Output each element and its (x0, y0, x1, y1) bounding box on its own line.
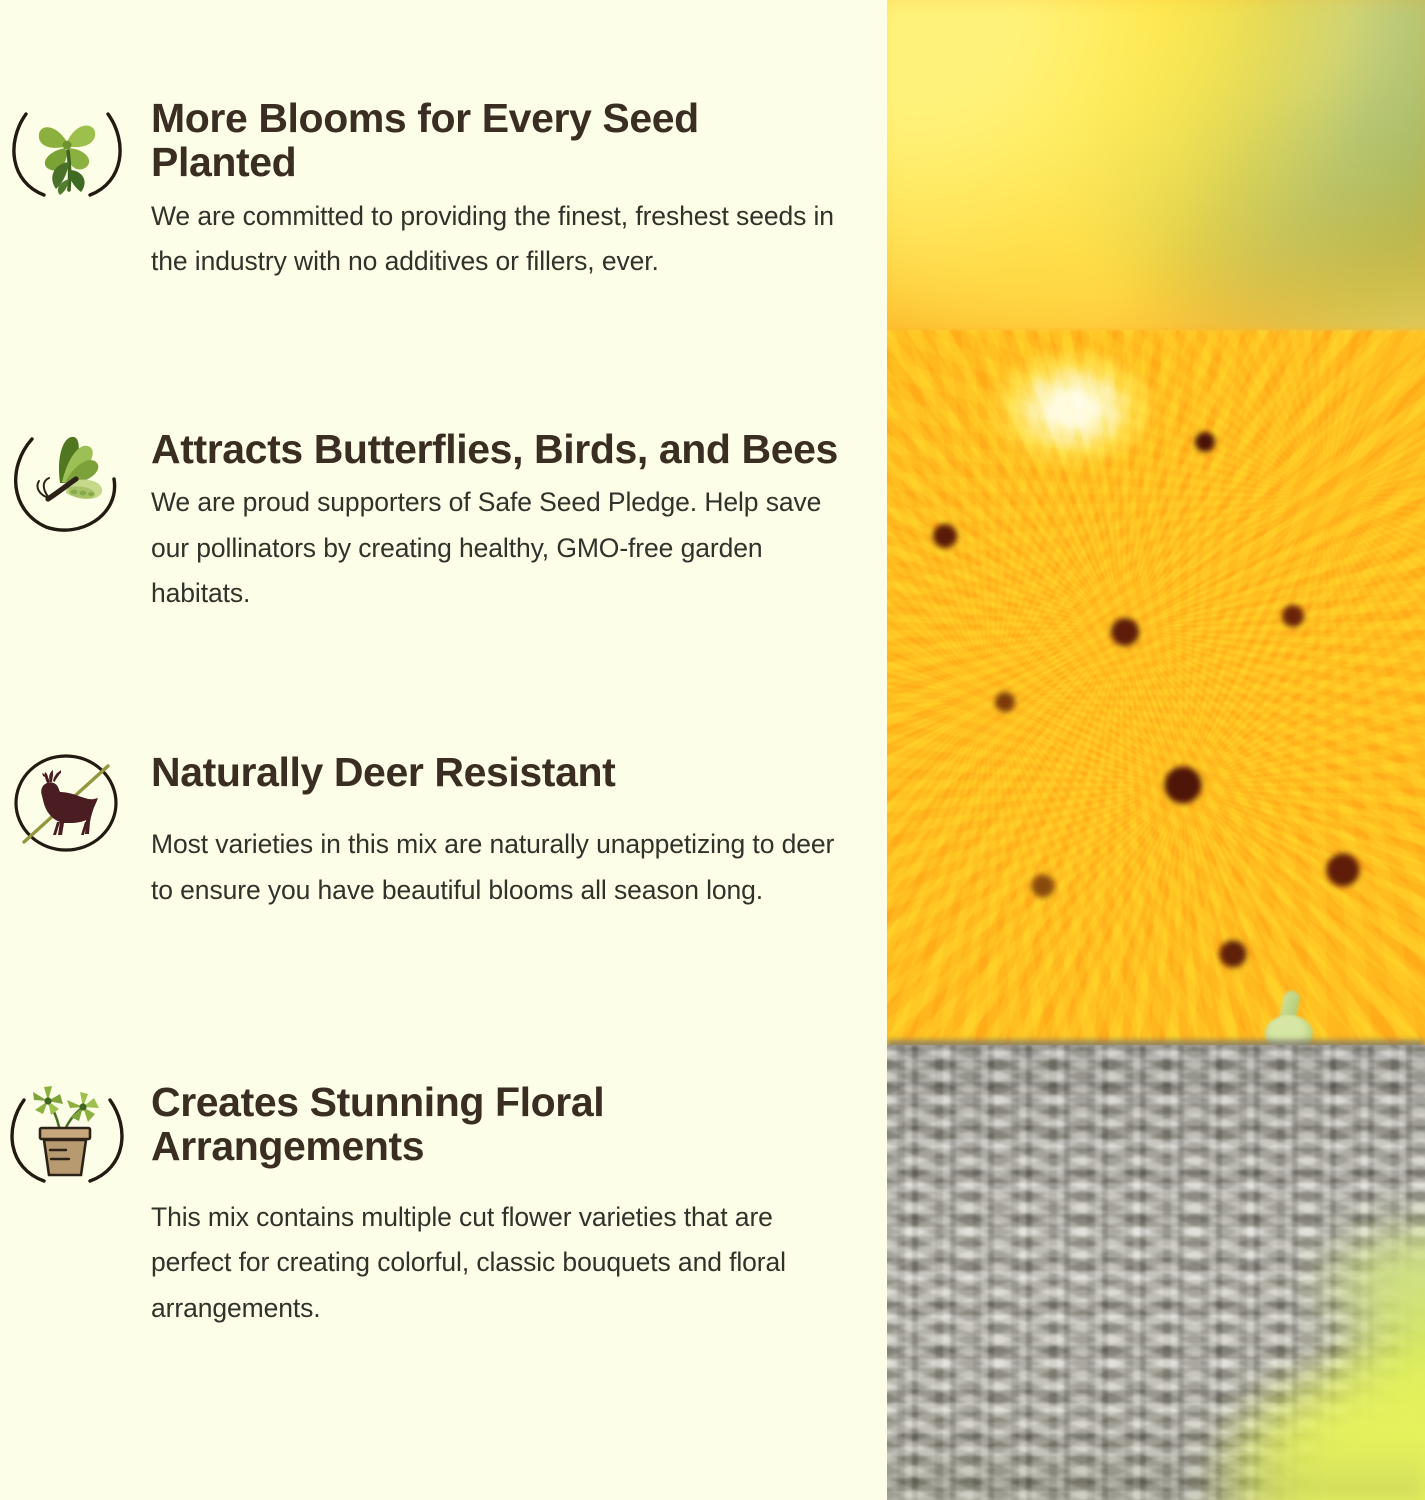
product-photo-flower-basket (887, 0, 1425, 1500)
feature-description: This mix contains multiple cut flower va… (151, 1195, 848, 1332)
potted-flowers-icon (8, 1080, 128, 1190)
butterfly-icon (8, 427, 128, 537)
feature-item-more-blooms: More Blooms for Every Seed Planted We ar… (0, 96, 887, 285)
feature-text: Naturally Deer Resistant Most varieties … (128, 750, 848, 913)
feature-title: Naturally Deer Resistant (151, 750, 848, 794)
feature-text: Attracts Butterflies, Birds, and Bees We… (128, 427, 848, 617)
feature-title: More Blooms for Every Seed Planted (151, 96, 848, 185)
feature-description: Most varieties in this mix are naturally… (151, 822, 848, 913)
feature-text: More Blooms for Every Seed Planted We ar… (128, 96, 848, 285)
flower-sprout-icon (8, 96, 128, 206)
photo-bottom-shadow (887, 1440, 1425, 1500)
feature-text: Creates Stunning Floral Arrangements Thi… (128, 1080, 848, 1331)
feature-list: More Blooms for Every Seed Planted We ar… (0, 0, 887, 1500)
feature-item-attracts-pollinators: Attracts Butterflies, Birds, and Bees We… (0, 427, 887, 617)
feature-item-floral-arrangements: Creates Stunning Floral Arrangements Thi… (0, 1080, 887, 1331)
feature-description: We are proud supporters of Safe Seed Ple… (151, 480, 848, 617)
feature-item-deer-resistant: Naturally Deer Resistant Most varieties … (0, 750, 887, 913)
photo-flower-centers (887, 330, 1425, 1110)
feature-description: We are committed to providing the finest… (151, 194, 848, 285)
product-feature-panel: More Blooms for Every Seed Planted We ar… (0, 0, 1425, 1500)
feature-title: Attracts Butterflies, Birds, and Bees (151, 427, 848, 471)
no-deer-icon (8, 750, 128, 860)
feature-title: Creates Stunning Floral Arrangements (151, 1080, 848, 1169)
